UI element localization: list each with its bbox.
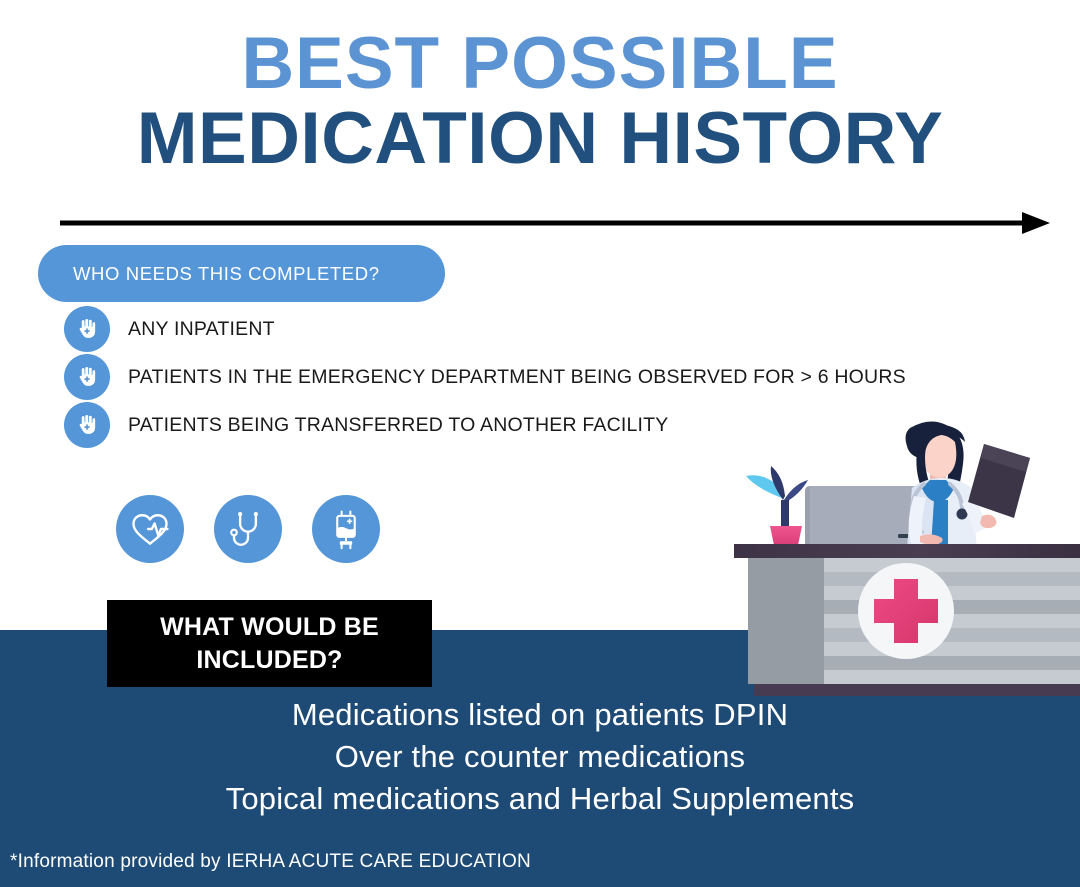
list-item-label: PATIENTS IN THE EMERGENCY DEPARTMENT BEI… bbox=[128, 366, 906, 389]
hand-care-icon bbox=[64, 354, 110, 400]
heart-pulse-icon bbox=[116, 495, 184, 563]
black-box-line-2: INCLUDED? bbox=[196, 644, 342, 677]
title-line-1: BEST POSSIBLE bbox=[0, 28, 1080, 100]
service-icon-row bbox=[116, 495, 380, 563]
list-item: Medications listed on patients DPIN bbox=[0, 694, 1080, 736]
list-item-label: ANY INPATIENT bbox=[128, 318, 275, 341]
page-title: BEST POSSIBLE MEDICATION HISTORY bbox=[0, 28, 1080, 177]
list-item-label: PATIENTS BEING TRANSFERRED TO ANOTHER FA… bbox=[128, 414, 669, 437]
included-items-list: Medications listed on patients DPIN Over… bbox=[0, 694, 1080, 820]
potted-plant bbox=[746, 466, 808, 550]
doctor-at-reception-desk-illustration bbox=[734, 404, 1080, 696]
what-would-be-included-box: WHAT WOULD BE INCLUDED? bbox=[107, 600, 432, 687]
black-box-line-1: WHAT WOULD BE bbox=[160, 611, 379, 644]
list-item: ANY INPATIENT bbox=[64, 305, 1024, 353]
arrow-right-icon bbox=[60, 208, 1050, 238]
medical-cross-medallion bbox=[858, 563, 954, 659]
title-line-2: MEDICATION HISTORY bbox=[0, 100, 1080, 177]
who-needs-this-pill: WHO NEEDS THIS COMPLETED? bbox=[38, 245, 445, 302]
list-item: Topical medications and Herbal Supplemen… bbox=[0, 778, 1080, 820]
list-item: PATIENTS IN THE EMERGENCY DEPARTMENT BEI… bbox=[64, 353, 1024, 401]
iv-drip-icon bbox=[312, 495, 380, 563]
list-item: Over the counter medications bbox=[0, 736, 1080, 778]
stethoscope-icon bbox=[214, 495, 282, 563]
hand-care-icon bbox=[64, 306, 110, 352]
hand-care-icon bbox=[64, 402, 110, 448]
footnote-text: *Information provided by IERHA ACUTE CAR… bbox=[10, 851, 531, 873]
pill-label: WHO NEEDS THIS COMPLETED? bbox=[38, 263, 380, 285]
